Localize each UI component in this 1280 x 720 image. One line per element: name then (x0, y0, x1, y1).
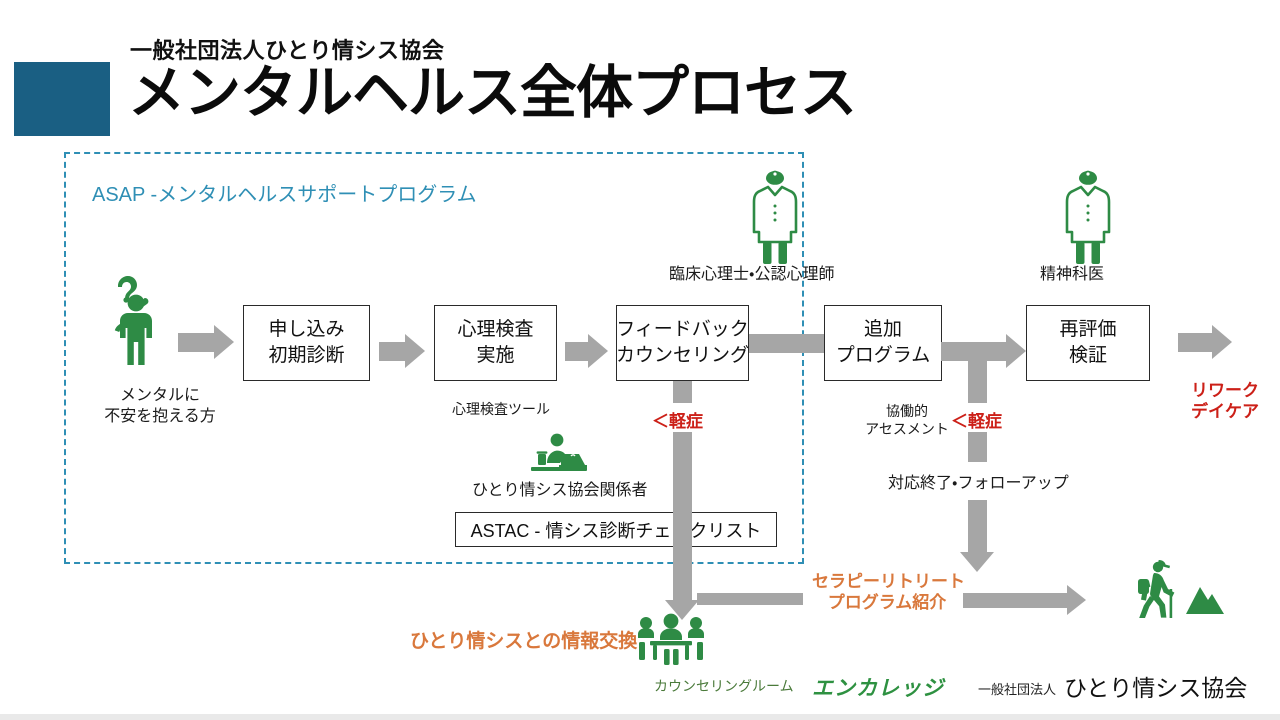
arrow-feedback-down-seg1 (673, 381, 692, 403)
footer-association-name: ひとり情シス協会 (1064, 669, 1247, 703)
process-box-reeval-line1: 再評価 (1059, 317, 1116, 343)
hiker-mountain-icon (1128, 556, 1226, 618)
arrow-bottom-stub-left (697, 593, 803, 605)
retreat-program-label: セラピーリトリート プログラム紹介 (812, 571, 962, 614)
process-box-apply-line2: 初期診断 (268, 343, 344, 369)
process-box-apply[interactable]: 申し込み 初期診断 (243, 305, 370, 381)
client-label-line1: メンタルに (102, 386, 218, 407)
person-laptop-icon (527, 432, 591, 476)
follow-up-label: 対応終了・フォローアップ (888, 474, 1069, 495)
process-box-apply-line1: 申し込み (268, 317, 344, 343)
test-tool-label: 心理検査ツール (452, 400, 550, 418)
arrow-feedback-down-seg2 (673, 432, 692, 600)
footer-association-prefix: 一般社団法人 (978, 679, 1056, 698)
astac-checklist-box[interactable]: ASTAC - 情シス診断チェックリスト (455, 512, 777, 547)
people-at-table-icon (633, 613, 709, 669)
mild-label-feedback: ＜軽症 (652, 407, 703, 432)
process-box-reeval-line2: 検証 (1069, 343, 1107, 369)
arrow-addprog-down-seg3 (968, 500, 987, 552)
process-box-feedback[interactable]: フィードバック カウンセリング (616, 305, 749, 381)
process-box-addprog-line2: プログラム (836, 343, 930, 369)
arrow-reeval-to-rework (1178, 325, 1232, 359)
process-box-test-line2: 実施 (476, 343, 514, 369)
info-exchange-label: ひとり情シスとの情報交換 (410, 630, 637, 654)
rework-line1: リワーク (1170, 380, 1280, 401)
footer-encourage-logo: エンカレッジ (812, 672, 944, 702)
rework-line2: デイケア (1170, 401, 1280, 422)
association-member-label: ひとり情シス協会関係者 (472, 481, 648, 502)
slide-canvas: 一般社団法人ひとり情シス協会 メンタルヘルス全体プロセス ASAP -メンタルヘ… (0, 0, 1280, 720)
footer-counseling-room-prefix: カウンセリングルーム (654, 676, 794, 696)
page-title: メンタルヘルス全体プロセス (128, 62, 856, 125)
retreat-line2: プログラム紹介 (812, 592, 962, 613)
process-box-additional-program[interactable]: 追加 プログラム (824, 305, 942, 381)
psychologist-label: 臨床心理士・公認心理師 (669, 265, 834, 286)
client-label-line2: 不安を抱える方 (102, 407, 218, 428)
psychiatrist-label: 精神科医 (1040, 265, 1104, 286)
arrow-addprog-down-seg2 (968, 432, 987, 462)
doctor-icon-psychologist (750, 168, 800, 266)
process-box-test-line1: 心理検査 (457, 317, 533, 343)
process-box-feedback-line2: カウンセリング (616, 343, 749, 369)
arrow-apply-to-test (379, 334, 425, 368)
arrow-client-to-apply (178, 325, 234, 359)
arrow-to-retreat (963, 585, 1086, 615)
process-box-addprog-line1: 追加 (864, 317, 902, 343)
arrow-addprog-down-head (960, 552, 994, 572)
collaborative-assessment-label: 協働的 アセスメント (862, 402, 952, 438)
astac-checklist-label: ASTAC - 情シス診断チェックリスト (471, 517, 762, 543)
asap-region-label: ASAP -メンタルヘルスサポートプログラム (92, 178, 477, 207)
worried-person-icon (104, 272, 168, 366)
process-box-feedback-line1: フィードバック (616, 317, 749, 343)
client-label: メンタルに 不安を抱える方 (102, 386, 218, 428)
collab-line2: アセスメント (862, 420, 952, 438)
arrow-test-to-feedback (565, 334, 608, 368)
collab-line1: 協働的 (862, 402, 952, 420)
retreat-line1: セラピーリトリート (812, 571, 962, 592)
bottom-rule (0, 714, 1280, 720)
accent-square (14, 62, 110, 136)
mild-label-addprog: ＜軽症 (951, 407, 1002, 432)
arrow-addprog-down-seg1 (968, 346, 987, 403)
process-box-test[interactable]: 心理検査 実施 (434, 305, 557, 381)
rework-daycare-label: リワーク デイケア (1170, 380, 1280, 423)
arrow-feedback-to-addprog (749, 334, 825, 353)
doctor-icon-psychiatrist (1063, 168, 1113, 266)
process-box-reevaluation[interactable]: 再評価 検証 (1026, 305, 1150, 381)
